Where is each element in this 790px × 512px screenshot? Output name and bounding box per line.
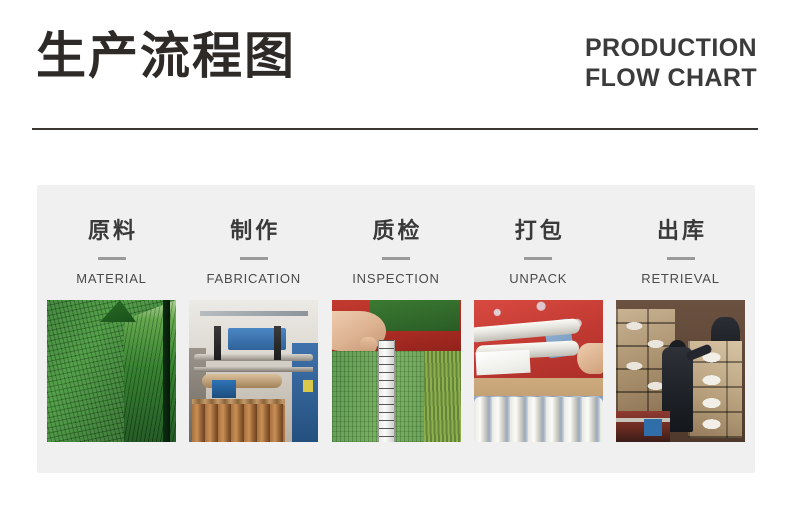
step-label-cn: 原料 [85, 219, 138, 245]
flow-step-fabrication: 制作 FABRICATION [187, 185, 320, 473]
page-title-english-line2: FLOW CHART [427, 63, 757, 93]
flow-step-retrieval: 出库 RETRIEVAL [614, 185, 747, 473]
step-label-en: UNPACK [509, 271, 567, 286]
cart-control-panel [644, 419, 662, 436]
stacked-paper-tubes [474, 397, 603, 442]
step-label-cn: 质检 [369, 219, 422, 245]
step-divider [524, 257, 552, 260]
step-label-cn: 制作 [227, 219, 280, 245]
weaving-machine-image [189, 300, 318, 442]
step-photo-fabrication [189, 300, 318, 442]
fabric-inspection-image [332, 300, 461, 442]
fabric-fringe-edge [424, 351, 460, 442]
step-photo-material [47, 300, 176, 442]
fabric-dark-edge [163, 300, 170, 442]
step-label-en: MATERIAL [76, 271, 146, 286]
flow-chart-panel: 原料 MATERIAL 制作 FABRICATION [37, 185, 755, 473]
machine-roller-bar [194, 354, 313, 361]
step-divider [382, 257, 410, 260]
flow-step-inspection: 质检 INSPECTION [330, 185, 463, 473]
yarn-spools [192, 404, 285, 442]
yarn-spool-tops [192, 399, 285, 404]
step-label-en: FABRICATION [206, 271, 301, 286]
flow-step-unpack: 打包 UNPACK [472, 185, 605, 473]
step-label-en: INSPECTION [352, 271, 439, 286]
step-photo-retrieval [616, 300, 745, 442]
machine-post [214, 326, 221, 360]
step-photo-inspection [332, 300, 461, 442]
step-label-cn: 出库 [654, 219, 707, 245]
carton-labels-right [691, 345, 740, 433]
measuring-ruler [378, 340, 395, 442]
machine-control-box [212, 380, 235, 398]
packing-station-image [474, 300, 603, 442]
white-paper-sheet [476, 350, 531, 376]
machine-roller-bar-lower [194, 367, 313, 372]
page-title-english-line1: PRODUCTION [585, 34, 757, 62]
step-divider [240, 257, 268, 260]
machine-yellow-plate [303, 380, 313, 393]
packer-hand [577, 343, 603, 374]
page-header: 生产流程图 PRODUCTION FLOW CHART [0, 0, 790, 132]
machine-overhead-beam [200, 311, 308, 316]
warehouse-loading-image [616, 300, 745, 442]
header-divider [32, 128, 758, 130]
page-title-english: PRODUCTION FLOW CHART [427, 33, 757, 93]
machine-post [274, 326, 281, 360]
step-label-cn: 打包 [512, 219, 565, 245]
step-divider [667, 257, 695, 260]
flow-step-material: 原料 MATERIAL [45, 185, 178, 473]
green-mesh-fabric-image [47, 300, 176, 442]
step-divider [98, 257, 126, 260]
page-title: 生产流程图 [36, 26, 296, 86]
flow-steps-container: 原料 MATERIAL 制作 FABRICATION [37, 185, 755, 473]
step-label-en: RETRIEVAL [641, 271, 719, 286]
fabric-peak [100, 300, 136, 322]
step-photo-unpack [474, 300, 603, 442]
